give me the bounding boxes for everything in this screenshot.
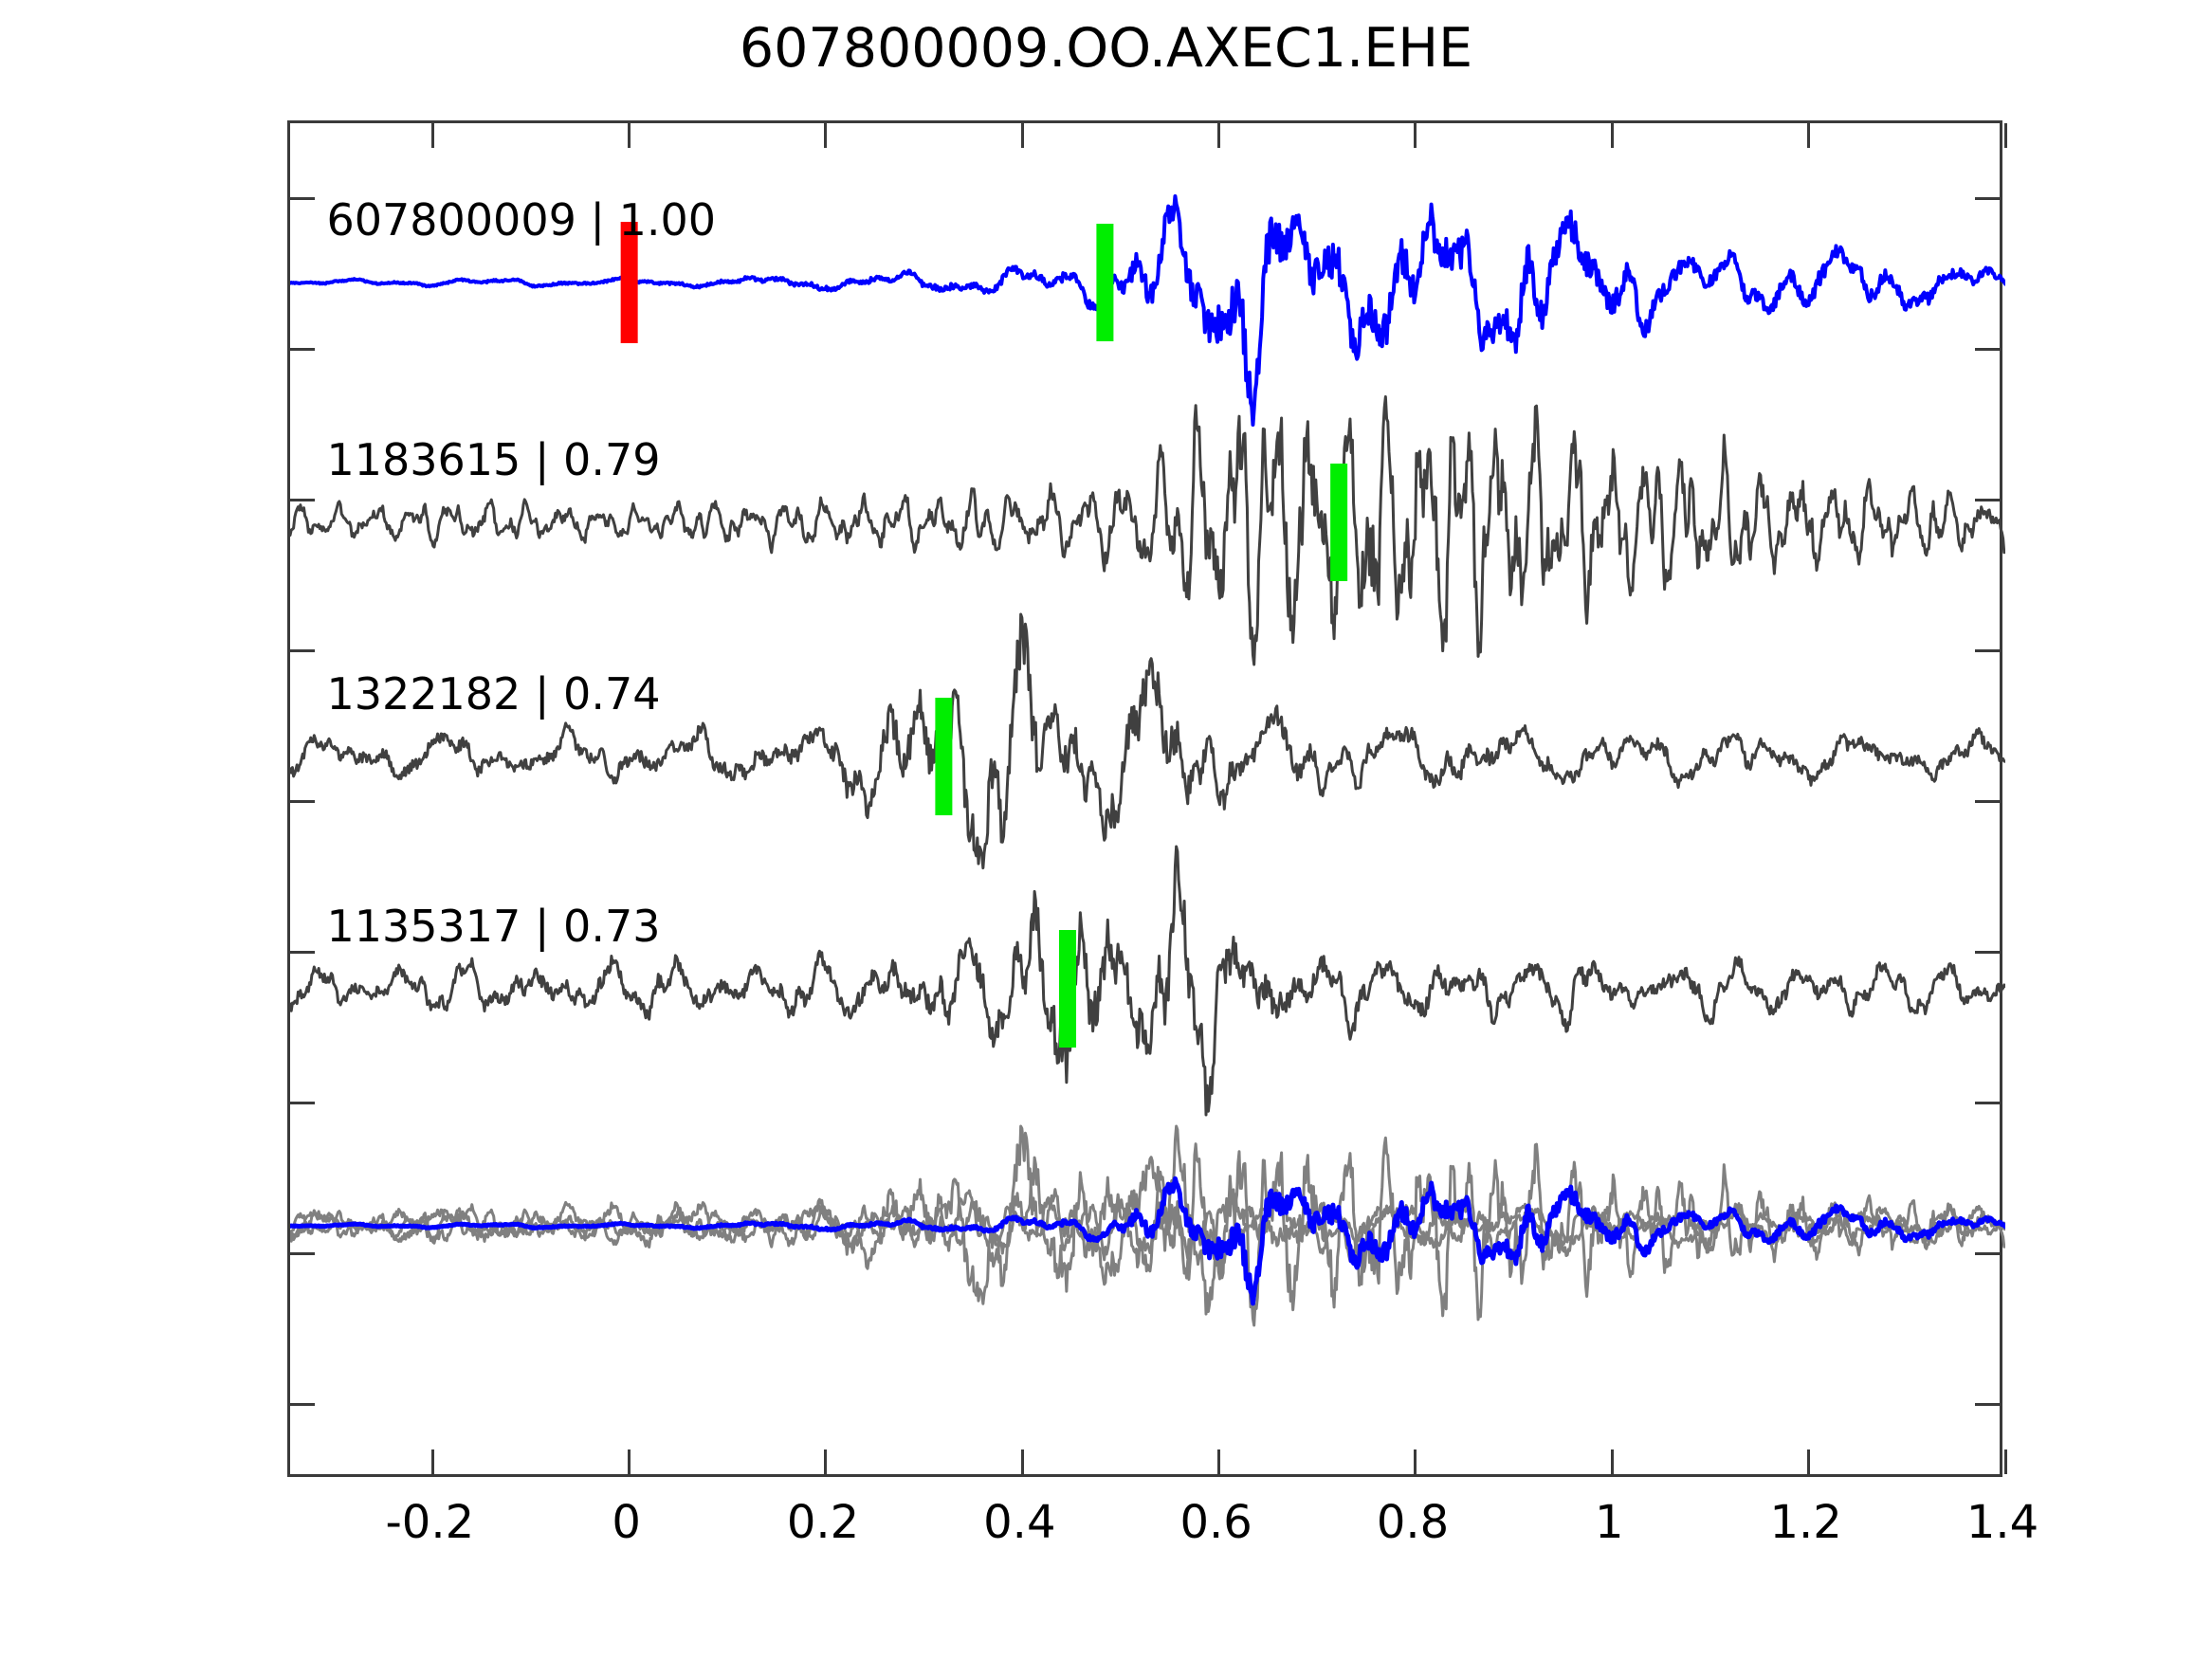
x-tick-label: -0.2 <box>385 1496 474 1549</box>
y-tick-right <box>1975 348 2000 351</box>
plot-axes <box>287 120 2002 1477</box>
x-tick-label: 1.4 <box>1966 1496 2038 1549</box>
x-tick-top <box>628 123 631 148</box>
y-tick-left <box>290 951 315 954</box>
x-tick-label: 1.2 <box>1769 1496 1841 1549</box>
phase-pick-marker <box>1330 464 1347 581</box>
phase-pick-marker <box>1096 224 1113 341</box>
composite-trace-1322182 <box>290 1126 2005 1303</box>
page-title: 607800009.OO.AXEC1.EHE <box>0 17 2212 80</box>
trace-label-1135317: 1135317 | 0.73 <box>326 901 660 952</box>
x-tick-label: 1 <box>1595 1496 1624 1549</box>
y-tick-left <box>290 800 315 803</box>
phase-pick-marker <box>935 698 952 815</box>
waveform-canvas <box>290 123 2005 1480</box>
y-tick-left <box>290 197 315 200</box>
y-tick-right <box>1975 800 2000 803</box>
x-tick-label: 0.8 <box>1377 1496 1449 1549</box>
x-tick-top <box>1414 123 1417 148</box>
y-tick-right <box>1975 499 2000 501</box>
x-tick-bottom <box>628 1449 631 1474</box>
x-tick-label: 0.2 <box>787 1496 859 1549</box>
y-tick-left <box>290 1403 315 1406</box>
x-tick-top <box>431 123 434 148</box>
phase-pick-marker <box>1059 930 1076 1048</box>
waveform-trace-1322182 <box>290 614 2005 868</box>
trace-label-1322182: 1322182 | 0.74 <box>326 668 660 720</box>
x-tick-top <box>1611 123 1614 148</box>
x-tick-top <box>1807 123 1810 148</box>
x-tick-top <box>824 123 827 148</box>
x-tick-label: 0.6 <box>1179 1496 1252 1549</box>
x-tick-label: 0 <box>612 1496 641 1549</box>
x-tick-bottom <box>1807 1449 1810 1474</box>
x-tick-top <box>2004 123 2007 148</box>
waveform-trace-1135317 <box>290 847 2005 1115</box>
x-tick-bottom <box>1217 1449 1220 1474</box>
y-tick-right <box>1975 1102 2000 1104</box>
y-tick-right <box>1975 1403 2000 1406</box>
x-tick-bottom <box>824 1449 827 1474</box>
x-tick-bottom <box>2004 1449 2007 1474</box>
trace-label-1183615: 1183615 | 0.79 <box>326 434 660 485</box>
y-tick-left <box>290 499 315 501</box>
x-tick-top <box>1021 123 1024 148</box>
x-tick-bottom <box>431 1449 434 1474</box>
x-tick-top <box>1217 123 1220 148</box>
y-tick-right <box>1975 951 2000 954</box>
y-tick-left <box>290 348 315 351</box>
y-tick-right <box>1975 1252 2000 1255</box>
y-tick-right <box>1975 649 2000 652</box>
x-tick-label: 0.4 <box>983 1496 1055 1549</box>
y-tick-left <box>290 649 315 652</box>
seismic-waveform-figure: 607800009.OO.AXEC1.EHE -0.200.20.40.60.8… <box>0 0 2212 1659</box>
y-tick-left <box>290 1252 315 1255</box>
x-tick-bottom <box>1021 1449 1024 1474</box>
x-tick-bottom <box>1611 1449 1614 1474</box>
y-tick-right <box>1975 197 2000 200</box>
y-tick-left <box>290 1102 315 1104</box>
x-tick-bottom <box>1414 1449 1417 1474</box>
trace-label-607800009: 607800009 | 1.00 <box>326 194 716 246</box>
